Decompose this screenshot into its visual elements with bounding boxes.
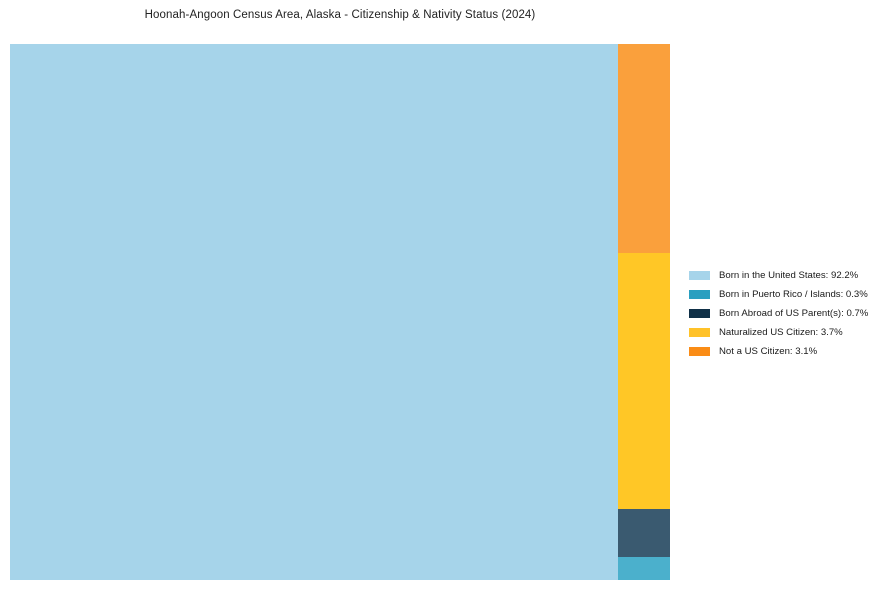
legend-item[interactable]: Born in the United States: 92.2%	[689, 266, 884, 285]
legend-item-label: Born in the United States: 92.2%	[719, 270, 858, 281]
treemap-tile[interactable]	[618, 253, 670, 509]
treemap-tile[interactable]	[10, 44, 618, 580]
chart-legend: Born in the United States: 92.2%Born in …	[689, 266, 884, 361]
legend-item-label: Naturalized US Citizen: 3.7%	[719, 327, 843, 338]
legend-item-label: Not a US Citizen: 3.1%	[719, 346, 817, 357]
legend-item[interactable]: Born in Puerto Rico / Islands: 0.3%	[689, 285, 884, 304]
legend-color-swatch	[689, 328, 710, 337]
legend-item[interactable]: Not a US Citizen: 3.1%	[689, 342, 884, 361]
treemap-tile[interactable]	[618, 44, 670, 253]
treemap-chart-figure: Hoonah-Angoon Census Area, Alaska - Citi…	[0, 0, 889, 590]
chart-title: Hoonah-Angoon Census Area, Alaska - Citi…	[0, 9, 680, 21]
legend-color-swatch	[689, 347, 710, 356]
legend-color-swatch	[689, 309, 710, 318]
legend-item[interactable]: Born Abroad of US Parent(s): 0.7%	[689, 304, 884, 323]
legend-color-swatch	[689, 271, 710, 280]
treemap-tile[interactable]	[618, 509, 670, 557]
legend-item-label: Born in Puerto Rico / Islands: 0.3%	[719, 289, 868, 300]
legend-item-label: Born Abroad of US Parent(s): 0.7%	[719, 308, 868, 319]
treemap-tile[interactable]	[618, 557, 670, 580]
legend-item[interactable]: Naturalized US Citizen: 3.7%	[689, 323, 884, 342]
legend-color-swatch	[689, 290, 710, 299]
treemap-plot-area	[10, 44, 670, 580]
